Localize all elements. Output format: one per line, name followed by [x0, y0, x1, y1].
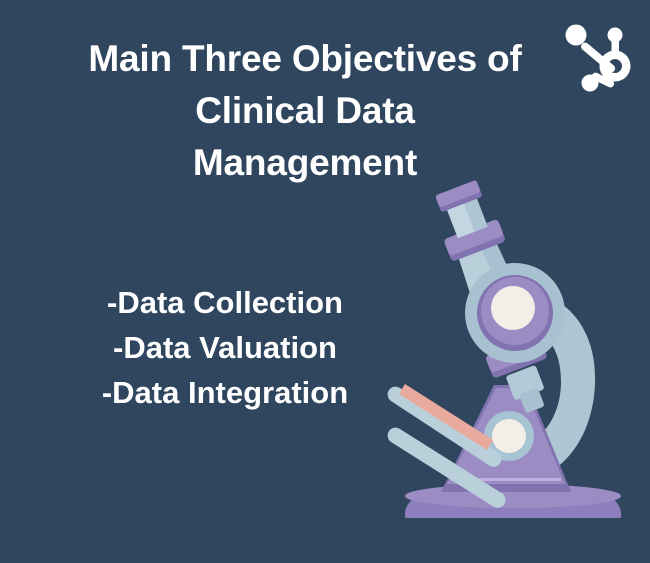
focus-knob-center — [491, 286, 535, 330]
illuminator-lens — [492, 419, 526, 453]
list-item: -Data Integration — [70, 370, 380, 415]
list-item: -Data Valuation — [70, 325, 380, 370]
list-item: -Data Collection — [70, 280, 380, 325]
poster-canvas: Main Three Objectives of Clinical Data M… — [0, 0, 650, 563]
hubspot-sprocket-logo — [561, 14, 643, 96]
title-line-3: Management — [55, 137, 555, 189]
page-title: Main Three Objectives of Clinical Data M… — [55, 33, 555, 189]
microscope-illustration — [375, 178, 650, 518]
title-line-1: Main Three Objectives of — [55, 33, 555, 85]
objectives-list: -Data Collection -Data Valuation -Data I… — [70, 280, 380, 415]
title-line-2: Clinical Data — [55, 85, 555, 137]
